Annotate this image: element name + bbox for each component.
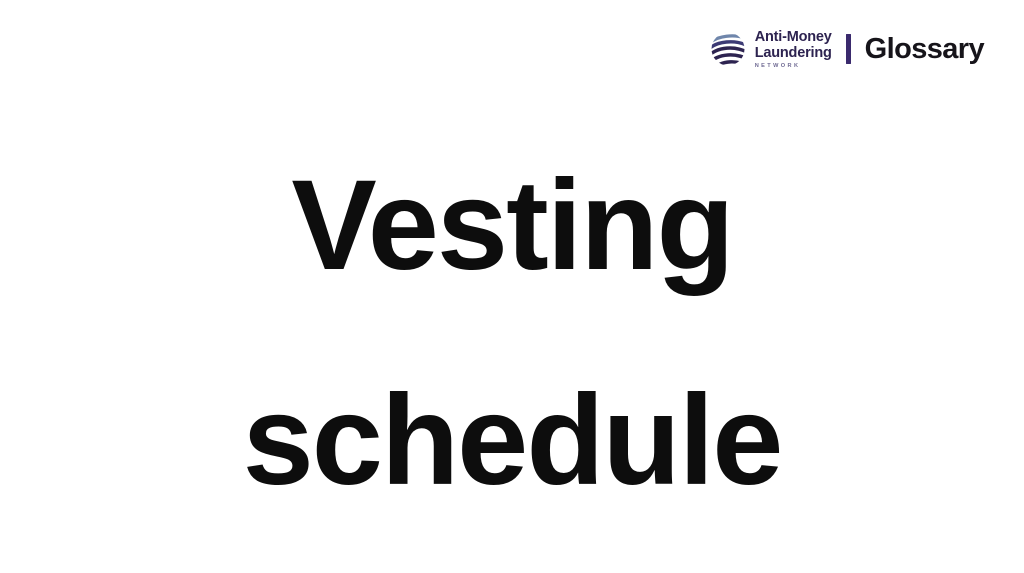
aml-network-logo[interactable]: Anti-Money Laundering NETWORK — [708, 28, 832, 70]
title-line-1: Vesting — [0, 118, 1024, 333]
title-line-2: schedule — [0, 333, 1024, 548]
aml-name-line-2: Laundering — [755, 45, 832, 61]
aml-name-line-1: Anti-Money — [755, 29, 832, 45]
aml-network-tagline: NETWORK — [755, 64, 832, 70]
slide-canvas: Anti-Money Laundering NETWORK Glossary V… — [0, 0, 1024, 573]
globe-swirl-icon — [708, 28, 748, 70]
page-title: Vesting schedule — [0, 118, 1024, 548]
aml-wordmark: Anti-Money Laundering NETWORK — [755, 29, 832, 70]
brand-lockup: Anti-Money Laundering NETWORK Glossary — [708, 28, 984, 70]
brand-divider — [846, 34, 851, 64]
glossary-label: Glossary — [865, 35, 984, 64]
